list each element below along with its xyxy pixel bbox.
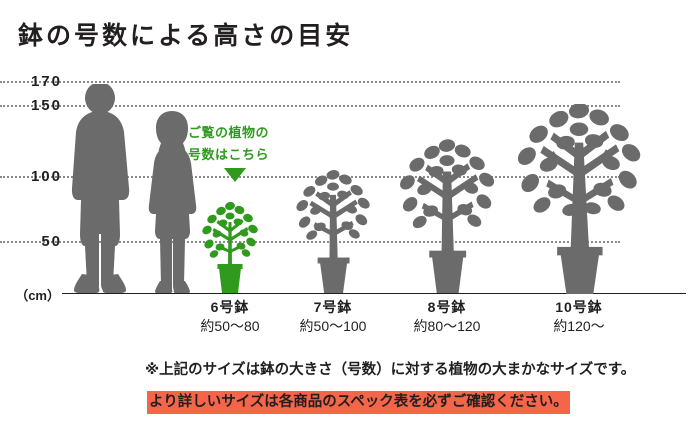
person-male-silhouette-icon [70, 84, 132, 293]
plant-illustration-6 [192, 192, 268, 293]
plant-name-10: 10号鉢 [509, 298, 649, 317]
down-triangle-icon [224, 168, 246, 182]
callout-line-2: 号数はこちら [188, 144, 269, 166]
note-line-1: ※上記のサイズは鉢の大きさ（号数）に対する植物の大まかなサイズです。 [145, 358, 635, 379]
y-tick-label-170: 170 [31, 73, 62, 90]
page-title: 鉢の号数による高さの目安 [18, 16, 353, 52]
plant-size-8: 約80〜120 [377, 317, 517, 336]
y-tick-label-100: 100 [31, 168, 62, 185]
y-axis-unit-label: （cm） [15, 285, 60, 304]
callout-line-1: ご覧の植物の [188, 122, 269, 144]
plant-caption-10: 10号鉢 約120〜 [509, 298, 649, 336]
y-tick-label-150: 150 [31, 97, 62, 114]
highlight-callout: ご覧の植物の 号数はこちら [188, 122, 269, 166]
note-line-2-wrapper: より詳しいサイズは各商品のスペック表を必ずご確認ください。 [147, 391, 570, 414]
plant-name-8: 8号鉢 [377, 298, 517, 317]
plant-size-10: 約120〜 [509, 317, 649, 336]
plant-illustration-7 [288, 163, 378, 293]
infographic-canvas: 鉢の号数による高さの目安 170 150 100 50 （cm） [0, 0, 700, 430]
y-axis: 170 150 100 50 （cm） [0, 0, 62, 300]
gridline-170 [0, 81, 620, 83]
plant-illustration-8 [395, 136, 499, 293]
y-tick-label-50: 50 [41, 233, 62, 250]
plant-caption-8: 8号鉢 約80〜120 [377, 298, 517, 336]
plant-illustration-10 [515, 104, 643, 294]
note-line-2: より詳しいサイズは各商品のスペック表を必ずご確認ください。 [147, 391, 570, 414]
